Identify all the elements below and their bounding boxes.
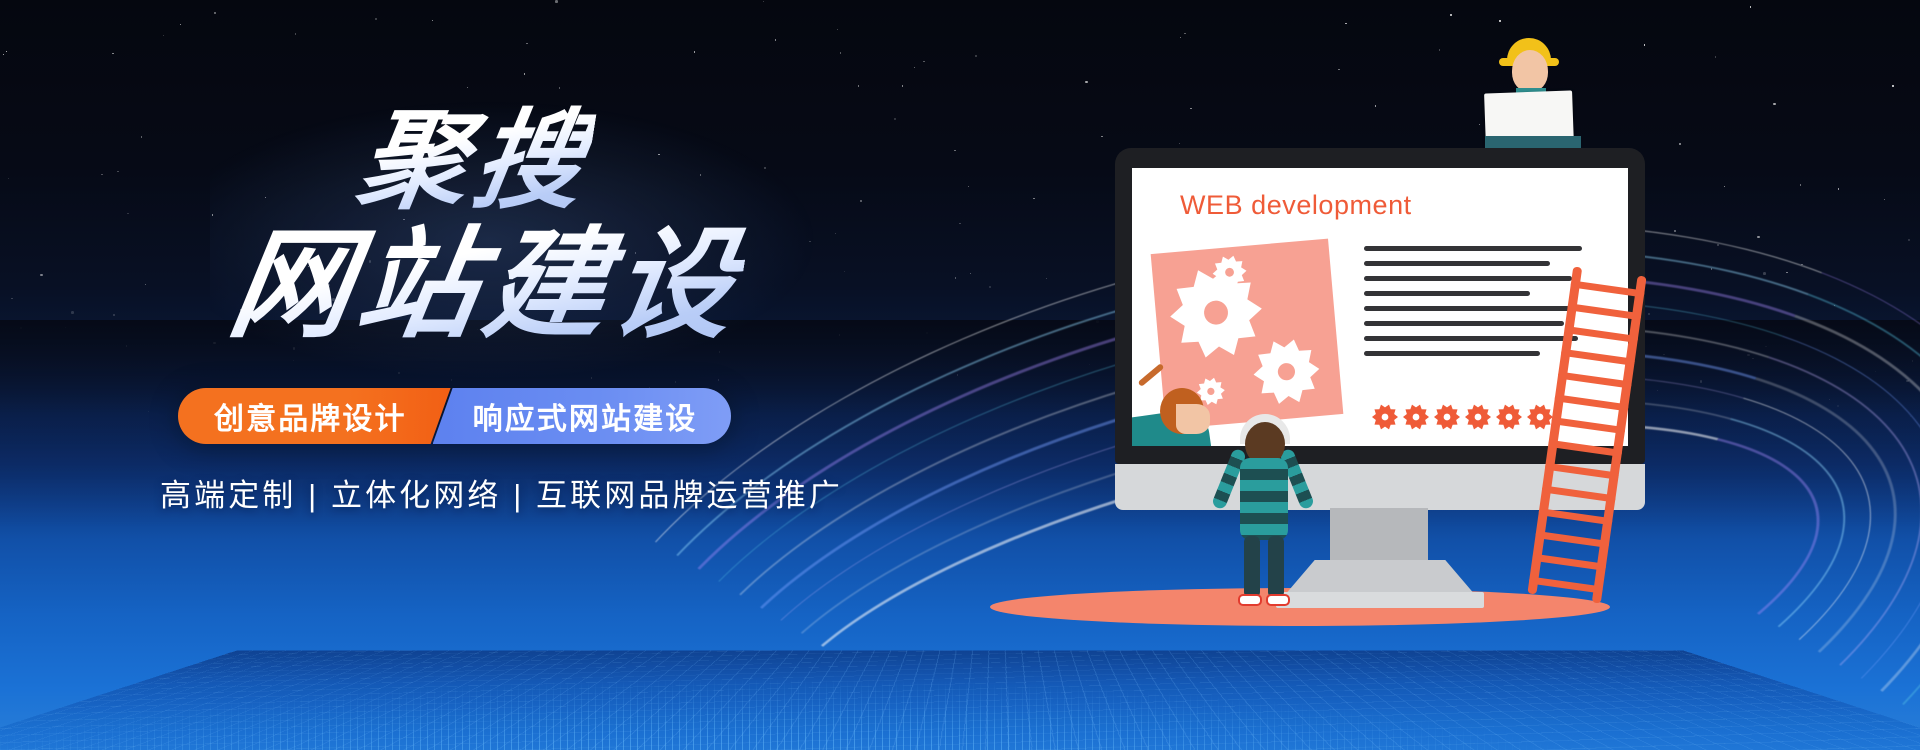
ladder-rung: [1535, 531, 1609, 548]
brand-headline-line2: 网站建设: [222, 222, 751, 349]
child-leg-left: [1244, 536, 1260, 598]
gear-icon: [1403, 404, 1429, 435]
ladder-rung: [1554, 394, 1628, 411]
star: [954, 150, 955, 151]
ladder-rung: [1548, 440, 1622, 457]
brand-headline-line1: 聚搜: [351, 104, 598, 218]
screen-text-line: [1364, 306, 1582, 311]
pill-creative-brand-design[interactable]: 创意品牌设计: [178, 388, 451, 444]
ladder-rung: [1532, 554, 1606, 571]
gear-icon: [1372, 404, 1398, 435]
star: [975, 55, 976, 56]
ladder-rung: [1561, 349, 1635, 366]
hero-tagline: 高端定制 | 立体化网络 | 互联网品牌运营推广: [160, 470, 843, 515]
architect-head: [1512, 50, 1548, 92]
service-pills: 创意品牌设计 响应式网站建设: [178, 388, 731, 444]
orange-gear-strip: [1372, 404, 1553, 435]
monitor-stand-base: [1284, 560, 1476, 596]
screen-text-line: [1364, 261, 1550, 266]
child-shoe-right: [1266, 594, 1290, 606]
pill-responsive-website[interactable]: 响应式网站建设: [433, 388, 732, 444]
ladder-rung: [1551, 417, 1625, 434]
ladder-rung: [1529, 576, 1603, 593]
ladder-rung: [1542, 485, 1616, 502]
screen-text-line: [1364, 276, 1572, 281]
star: [989, 286, 992, 289]
child-shoe-left: [1238, 594, 1262, 606]
designer-face: [1176, 404, 1210, 434]
screen-text-line: [1364, 246, 1582, 251]
ladder-rung: [1538, 508, 1612, 525]
character-child: [1218, 400, 1308, 600]
screen-text-line: [1364, 321, 1564, 326]
star: [968, 186, 969, 187]
child-body: [1240, 458, 1288, 540]
star: [959, 223, 960, 224]
screen-text-line: [1364, 336, 1578, 341]
gear-icon: [1211, 254, 1248, 296]
star: [923, 61, 924, 62]
hero-banner: 聚搜 网站建设 创意品牌设计 响应式网站建设 高端定制 | 立体化网络 | 互联…: [0, 0, 1920, 750]
gear-icon: [1465, 404, 1491, 435]
hero-copy: 聚搜 网站建设 创意品牌设计 响应式网站建设 高端定制 | 立体化网络 | 互联…: [0, 0, 900, 750]
ladder-rung: [1570, 280, 1644, 297]
ladder-rung: [1567, 303, 1641, 320]
star: [902, 85, 903, 86]
gear-icon: [1434, 404, 1460, 435]
star: [955, 277, 956, 278]
screen-text-line: [1364, 351, 1540, 356]
screen-title: WEB development: [1180, 190, 1412, 221]
screen-text-lines: [1364, 246, 1582, 366]
gear-icon: [1527, 404, 1553, 435]
star: [970, 273, 971, 274]
gear-icon: [1496, 404, 1522, 435]
ladder-rung: [1545, 463, 1619, 480]
star: [914, 67, 915, 68]
ladder-rung: [1558, 371, 1632, 388]
ladder-rung: [1564, 326, 1638, 343]
illustration: WEB development: [1030, 0, 1920, 750]
screen-text-line: [1364, 291, 1530, 296]
child-leg-right: [1268, 536, 1284, 598]
